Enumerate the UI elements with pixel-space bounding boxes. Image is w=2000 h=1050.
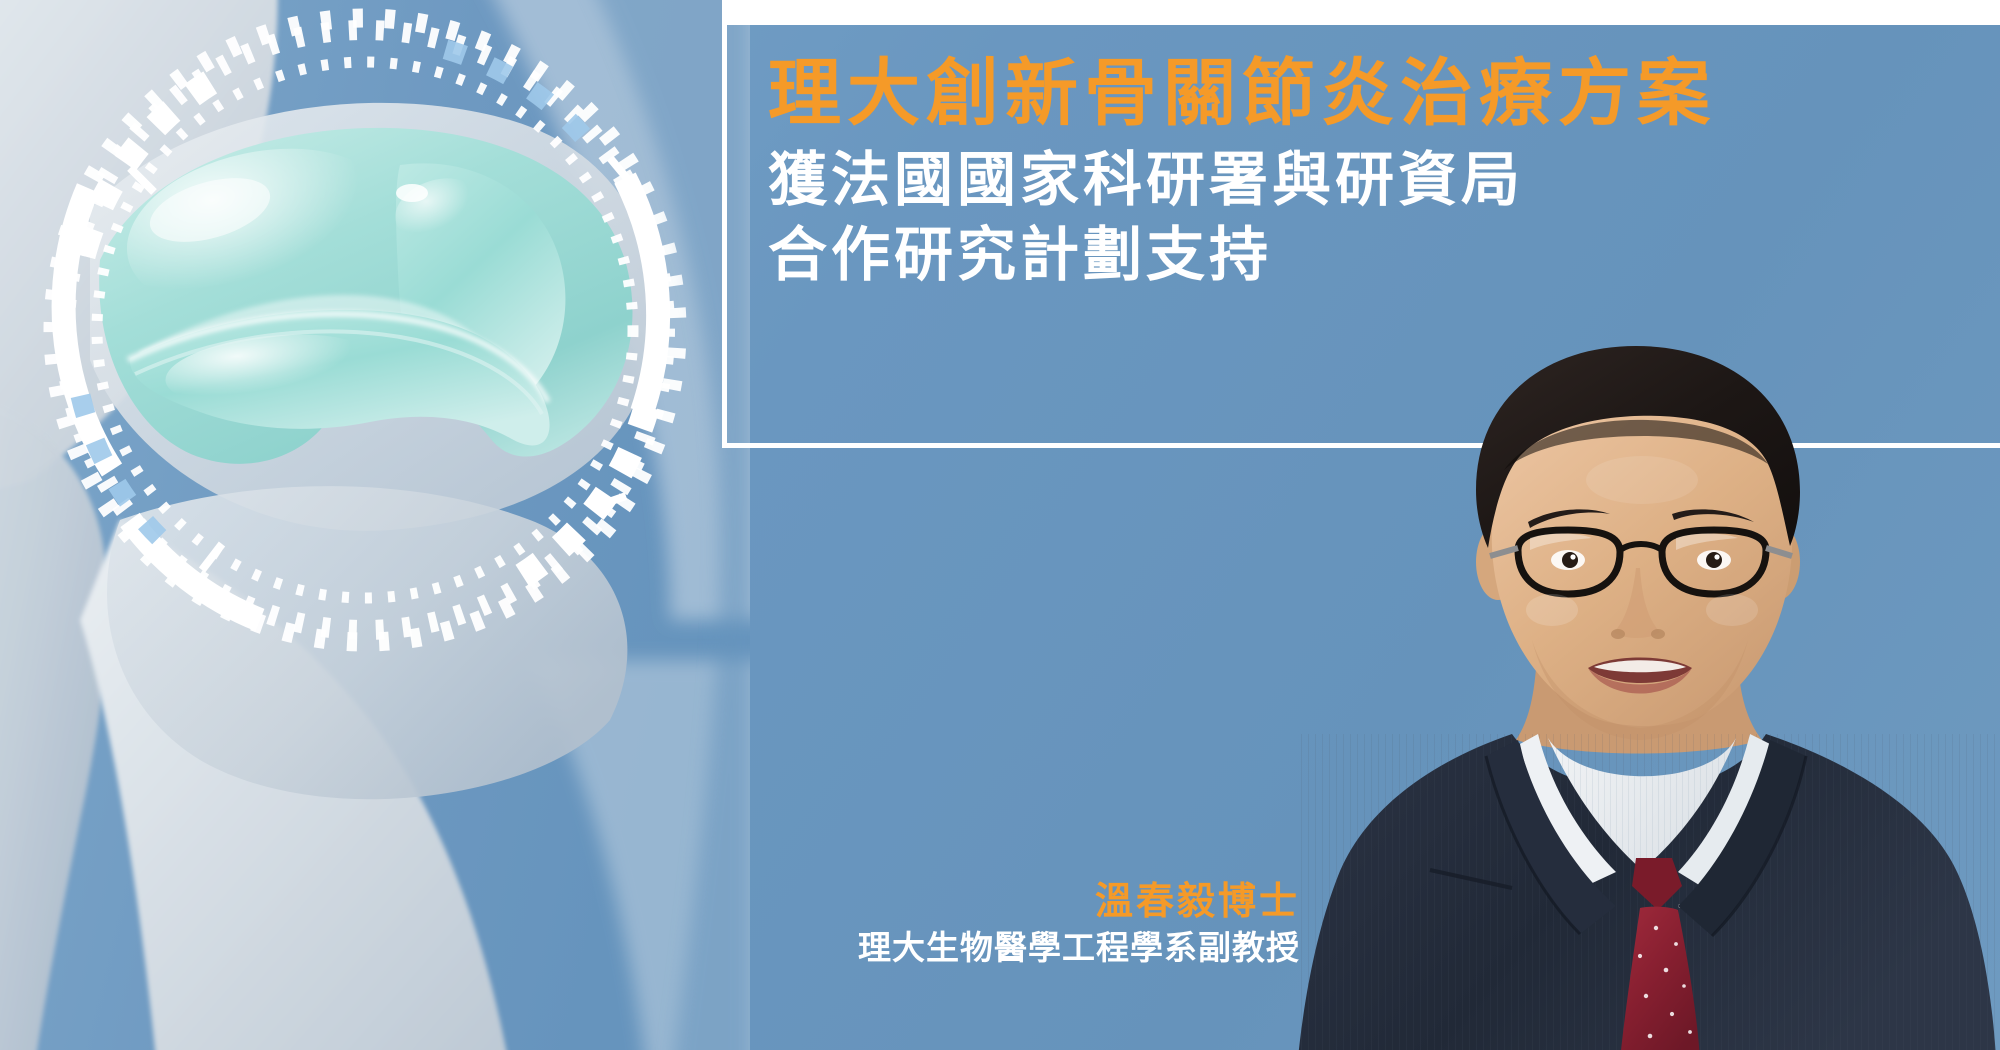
- person-name: 溫春毅博士: [600, 880, 1300, 924]
- subtitle-line-1: 獲法國國家科研署與研資局: [768, 143, 2000, 218]
- frame-top-band: [722, 0, 2000, 25]
- person-role: 理大生物醫學工程學系副教授: [600, 928, 1300, 968]
- credit-block: 溫春毅博士 理大生物醫學工程學系副教授: [600, 880, 1300, 968]
- headline-block: 理大創新骨關節炎治療方案 獲法國國家科研署與研資局 合作研究計劃支持: [768, 52, 2000, 293]
- frame-left-rule: [722, 25, 727, 448]
- page-title: 理大創新骨關節炎治療方案: [768, 52, 2000, 135]
- professor-portrait: [1280, 310, 2000, 1050]
- subtitle-line-2: 合作研究計劃支持: [768, 218, 2000, 293]
- banner-root: 理大創新骨關節炎治療方案 獲法國國家科研署與研資局 合作研究計劃支持 溫春毅博士…: [0, 0, 2000, 1050]
